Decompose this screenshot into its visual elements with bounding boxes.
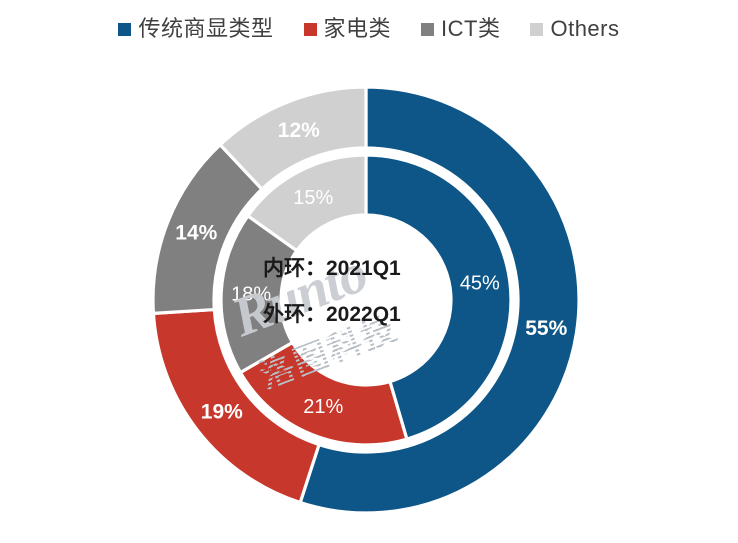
slice-label-outer-0: 55% [525, 317, 567, 340]
slice-label-outer-1: 19% [201, 400, 243, 423]
slice-label-inner-3: 15% [293, 187, 333, 209]
center-annotation-line-outer: 外环：2022Q1 [263, 304, 473, 325]
donut-chart: 传统商显类型 家电类 ICT类 Others 55%19%14%12% 45%2… [0, 0, 738, 543]
center-annotation: 内环：2021Q1 外环：2022Q1 [263, 258, 473, 325]
slice-label-outer-2: 14% [175, 221, 217, 244]
center-annotation-line-inner: 内环：2021Q1 [263, 258, 473, 279]
slice-label-inner-1: 21% [303, 396, 343, 418]
slice-label-outer-3: 12% [278, 119, 320, 142]
